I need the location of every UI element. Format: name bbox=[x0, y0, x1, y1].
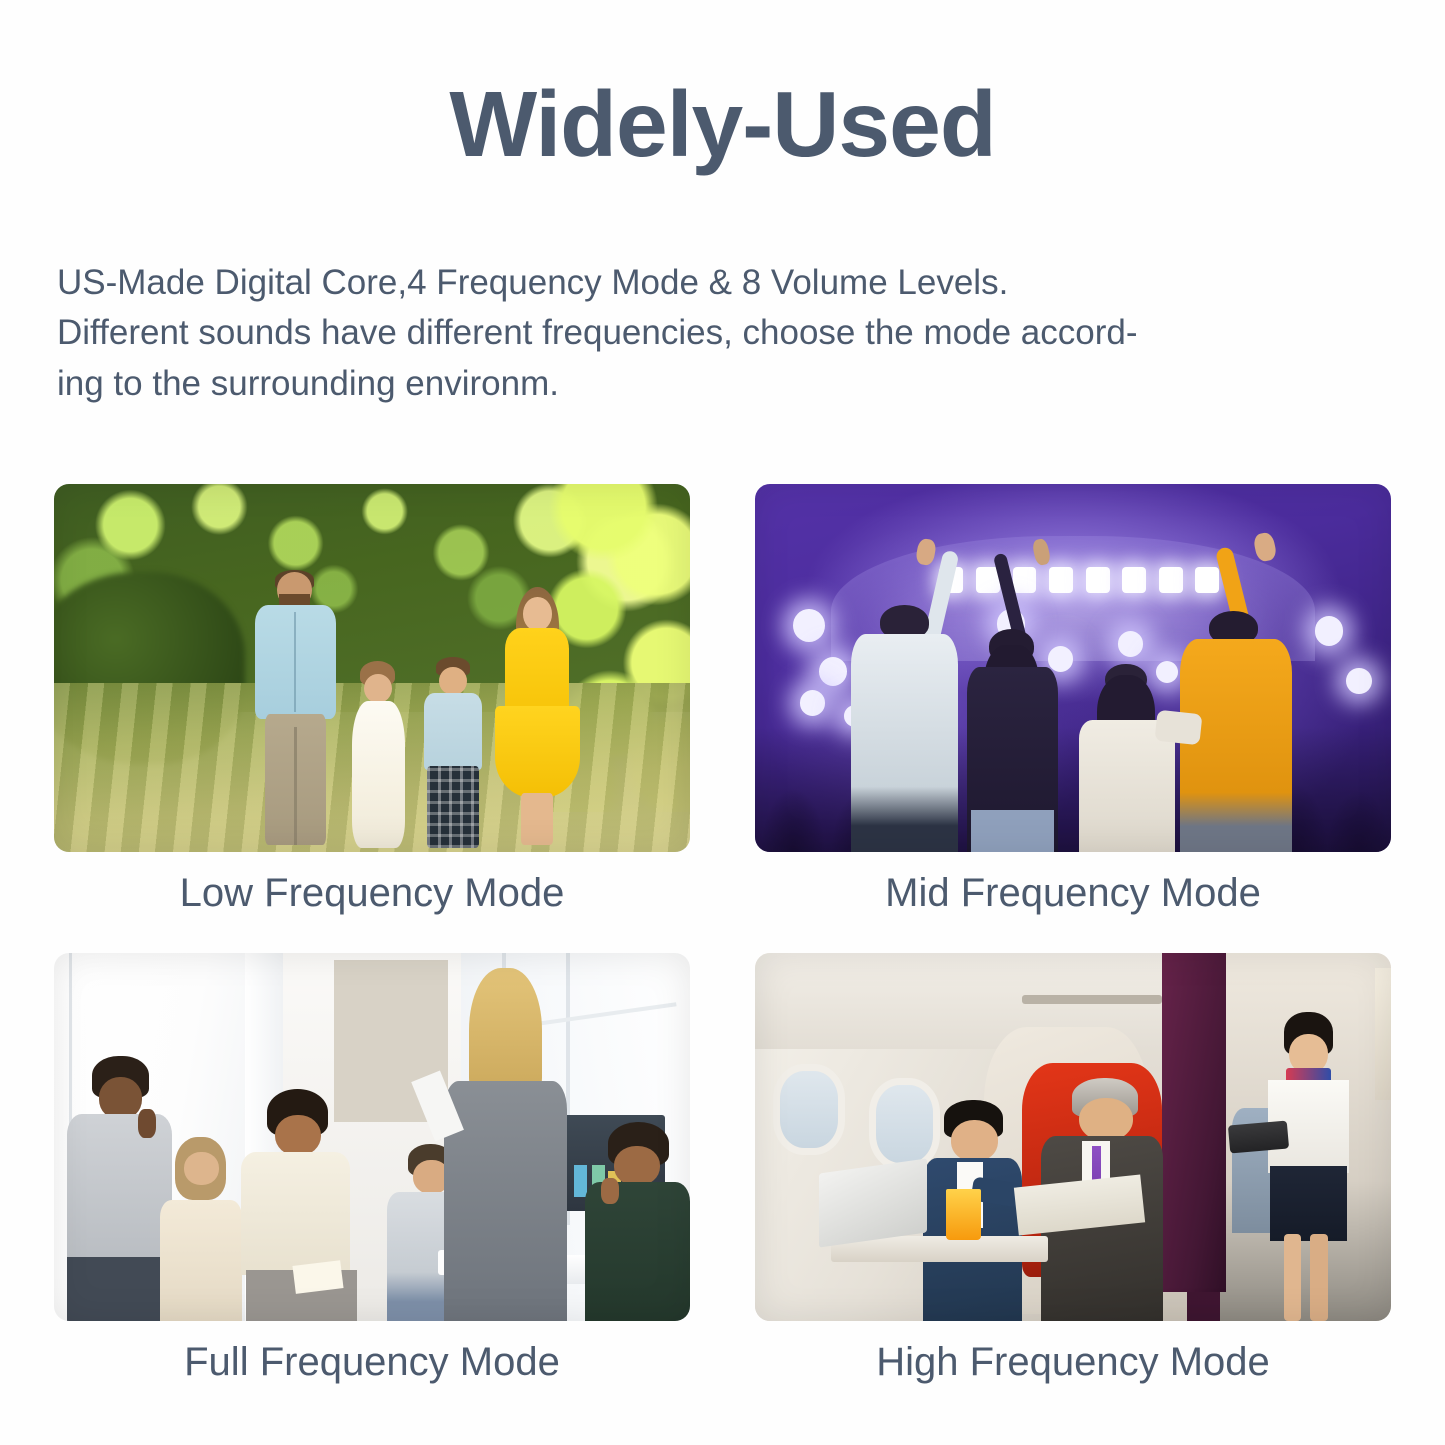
figure-fan-second bbox=[959, 587, 1067, 852]
page-title: Widely-Used bbox=[0, 76, 1445, 174]
figure-colleague-2 bbox=[156, 1137, 251, 1321]
cabin-curtain bbox=[1162, 953, 1226, 1292]
scene-caption-mid-frequency: Mid Frequency Mode bbox=[755, 868, 1391, 918]
photo-concert-crowd bbox=[755, 484, 1391, 852]
scene-caption-low-frequency: Low Frequency Mode bbox=[54, 868, 690, 918]
scene-caption-high-frequency: High Frequency Mode bbox=[755, 1337, 1391, 1387]
figure-colleague-6 bbox=[576, 1122, 690, 1321]
photo-park-family bbox=[54, 484, 690, 852]
scene-caption-full-frequency: Full Frequency Mode bbox=[54, 1337, 690, 1387]
scene-card-high-frequency: High Frequency Mode bbox=[755, 953, 1391, 1387]
figure-flight-attendant bbox=[1257, 1012, 1359, 1321]
spotlight bbox=[800, 690, 825, 716]
figure-fan-right bbox=[1175, 572, 1309, 852]
figure-fan-left bbox=[844, 565, 965, 852]
scene-card-low-frequency: Low Frequency Mode bbox=[54, 484, 690, 918]
figure-presenter bbox=[436, 968, 576, 1321]
spotlight bbox=[1315, 616, 1344, 645]
figure-father bbox=[245, 572, 347, 844]
figure-colleague-3 bbox=[238, 1089, 359, 1321]
scene-card-full-frequency: Full Frequency Mode bbox=[54, 953, 690, 1387]
figure-daughter bbox=[343, 664, 413, 848]
intro-paragraph: US-Made Digital Core,4 Frequency Mode & … bbox=[57, 258, 1397, 409]
spotlight bbox=[1346, 668, 1371, 694]
figure-son bbox=[417, 657, 490, 848]
scene-card-mid-frequency: Mid Frequency Mode bbox=[755, 484, 1391, 918]
scene-grid: Low Frequency Mode bbox=[54, 484, 1391, 1387]
spotlight bbox=[793, 609, 825, 642]
photo-airplane-cabin bbox=[755, 953, 1391, 1321]
figure-mother bbox=[493, 587, 582, 845]
cabin-window bbox=[780, 1071, 837, 1148]
promo-page: Widely-Used US-Made Digital Core,4 Frequ… bbox=[0, 0, 1445, 1445]
laptop bbox=[819, 1159, 927, 1248]
photo-office-meeting bbox=[54, 953, 690, 1321]
orange-juice-glass bbox=[946, 1189, 981, 1241]
